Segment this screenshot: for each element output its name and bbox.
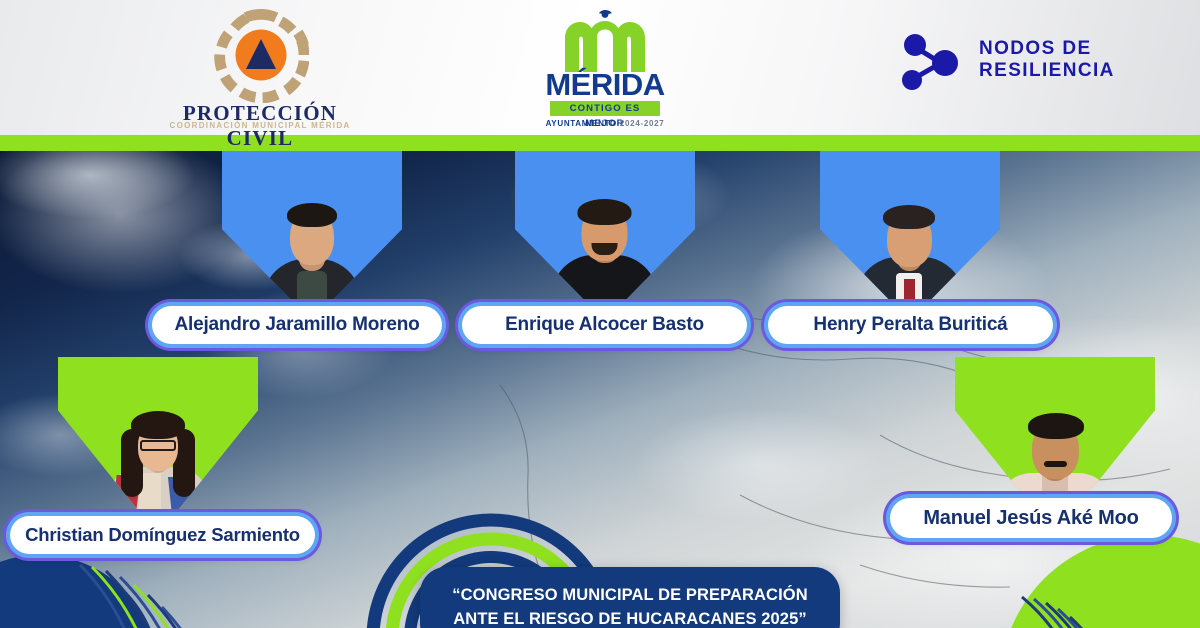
event-title-line-1: “CONGRESO MUNICIPAL DE PREPARACIÓN [452,584,807,608]
poster-header: PROTECCIÓN CIVIL COORDINACIÓN MUNICIPAL … [0,0,1200,135]
nodos-resiliencia-text: NODOS DE RESILIENCIA [979,38,1115,82]
speaker-name-badge-1: Alejandro Jaramillo Moreno [152,306,442,344]
civil-protection-triangle-icon [213,7,309,103]
speaker-name-badge-5: Manuel Jesús Aké Moo [890,498,1172,538]
merida-slogan-band: CONTIGO ES MEJOR [550,101,660,116]
poster-main-band: “CONGRESO MUNICIPAL DE PREPARACIÓN ANTE … [0,135,1200,628]
speaker-name-badge-4: Christian Domínguez Sarmiento [10,516,315,554]
corner-decoration-bottom-left [0,485,260,628]
merida-title: MÉRIDA [525,69,685,100]
nodos-line-2: RESILIENCIA [979,60,1115,82]
merida-footer-prefix: AYUNTAMIENTO [546,119,617,128]
event-title-box: “CONGRESO MUNICIPAL DE PREPARACIÓN ANTE … [420,567,840,628]
corner-decoration-bottom-right [960,535,1200,628]
merida-footer: AYUNTAMIENTO 2024-2027 [525,119,685,128]
speaker-name-badge-2: Enrique Alcocer Basto [462,306,747,344]
logo-merida: MÉRIDA CONTIGO ES MEJOR AYUNTAMIENTO 202… [525,10,685,132]
header-logo-row: PROTECCIÓN CIVIL COORDINACIÓN MUNICIPAL … [0,0,1200,135]
logo-nodos-resiliencia: NODOS DE RESILIENCIA [895,28,1110,100]
network-nodes-icon [895,32,969,94]
event-poster: PROTECCIÓN CIVIL COORDINACIÓN MUNICIPAL … [0,0,1200,628]
nodos-line-1: NODOS DE [979,38,1115,60]
merida-footer-years: 2024-2027 [620,119,665,128]
proteccion-civil-subtitle: COORDINACIÓN MUNICIPAL MÉRIDA [150,121,370,130]
event-title-line-2: ANTE EL RIESGO DE HUCARACANES 2025” [453,608,806,628]
speaker-name-badge-3: Henry Peralta Buriticá [768,306,1053,344]
logo-proteccion-civil: PROTECCIÓN CIVIL COORDINACIÓN MUNICIPAL … [150,4,370,132]
merida-arch-icon [560,10,650,72]
